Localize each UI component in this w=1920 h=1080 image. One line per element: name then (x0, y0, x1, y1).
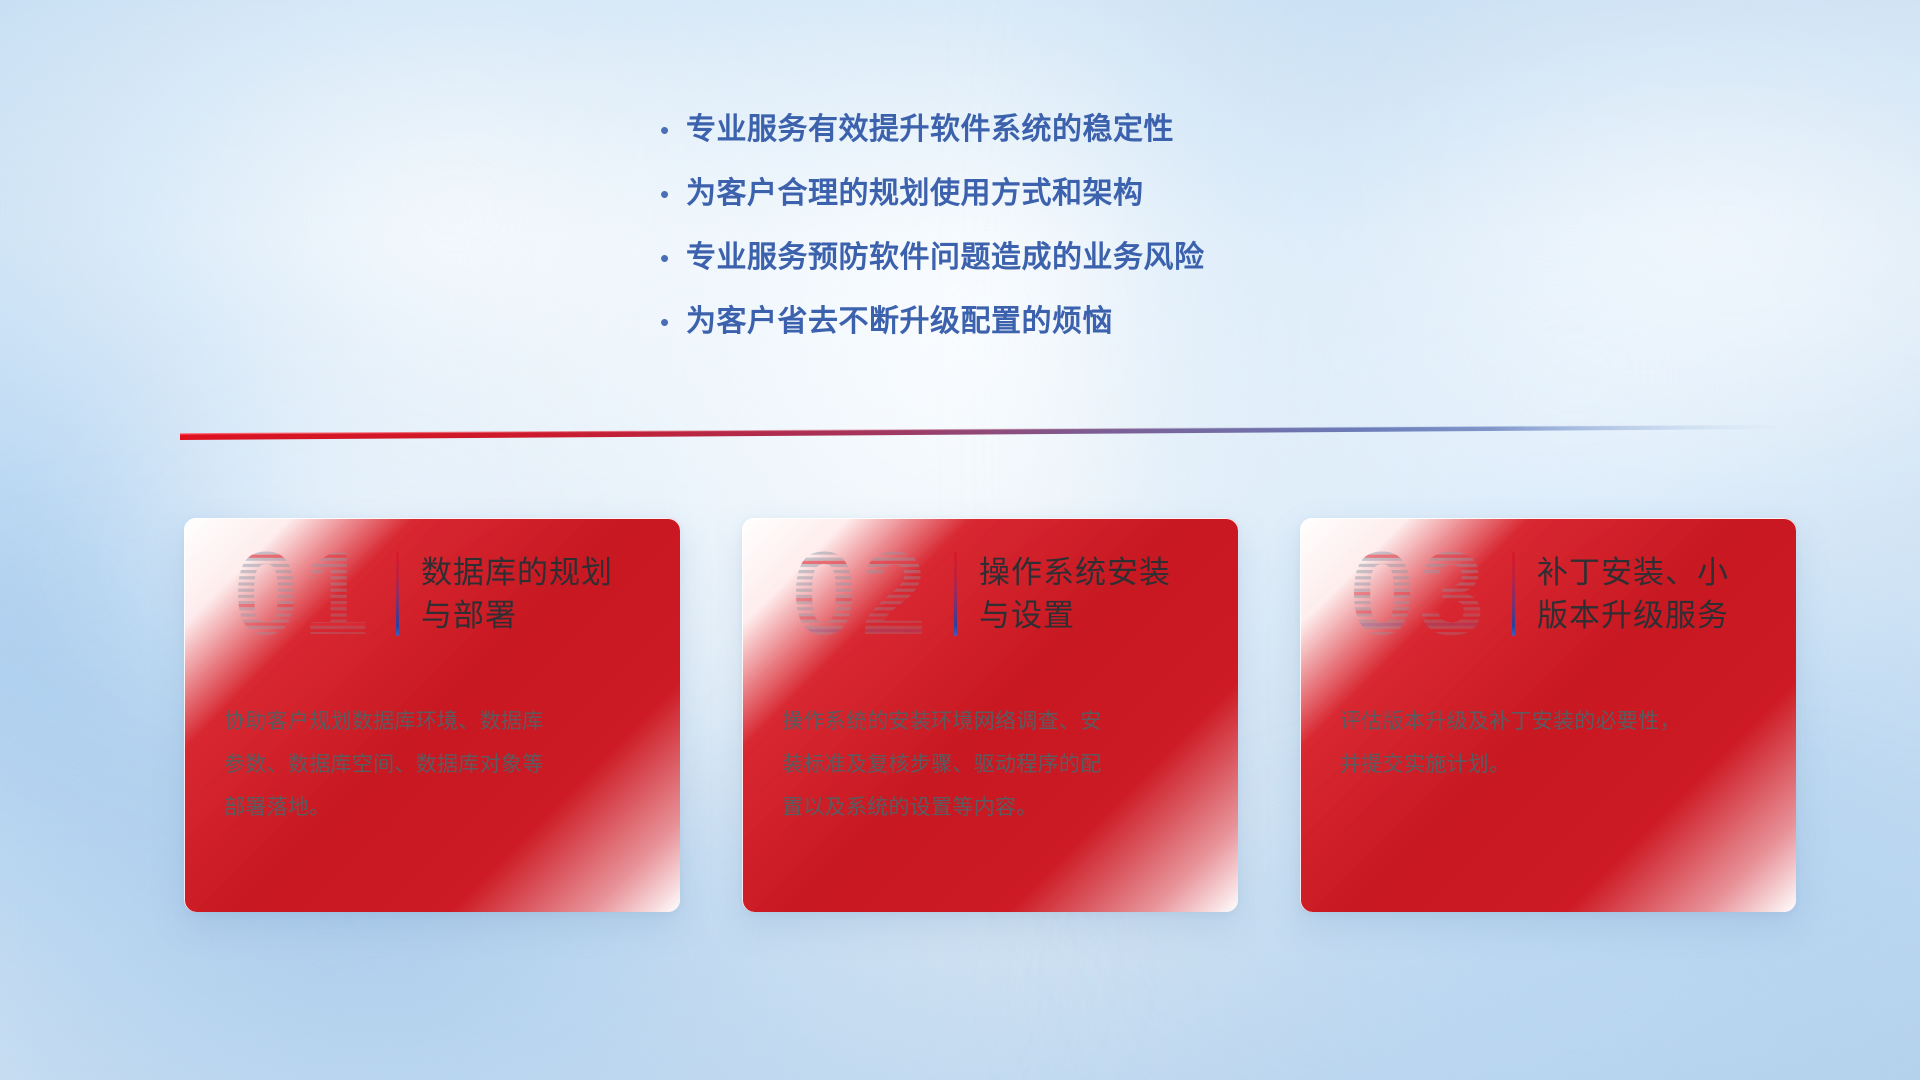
bullet-dot-icon: • (660, 238, 686, 278)
bullet-item: • 为客户省去不断升级配置的烦恼 (660, 302, 1520, 366)
card-body-text: 评估版本升级及补丁安装的必要性， 并提交实施计划。 (1340, 700, 1758, 786)
bullet-item: • 专业服务有效提升软件系统的稳定性 (660, 110, 1520, 174)
service-card[interactable]: 03 补丁安装、小 版本升级服务 评估版本升级及补丁安装的必要性， 并提交实施计… (1300, 518, 1796, 912)
card-title-accent-bar (954, 552, 957, 636)
card-title-accent-bar (1512, 552, 1515, 636)
card-number-striped-graphic: 03 (1326, 539, 1512, 649)
card-title: 数据库的规划 与部署 (421, 551, 613, 637)
card-number-striped-graphic: 01 (210, 539, 396, 649)
service-card-row: 01 数据库的规划 与部署 协助客户规划数据库环境、数据库 参数、数据库空间、数… (184, 518, 1796, 912)
card-title-accent-bar (396, 552, 399, 636)
bullet-list: • 专业服务有效提升软件系统的稳定性 • 为客户合理的规划使用方式和架构 • 专… (660, 110, 1520, 366)
card-header: 01 数据库的规划 与部署 (184, 518, 680, 670)
section-divider (180, 418, 1780, 440)
card-title: 操作系统安装 与设置 (979, 551, 1171, 637)
bullet-text: 为客户省去不断升级配置的烦恼 (686, 302, 1113, 342)
bullet-text: 为客户合理的规划使用方式和架构 (686, 174, 1144, 214)
card-body-text: 操作系统的安装环境网络调查、安 装标准及复核步骤、驱动程序的配 置以及系统的设置… (782, 700, 1200, 829)
card-header: 02 操作系统安装 与设置 (742, 518, 1238, 670)
bullet-text: 专业服务预防软件问题造成的业务风险 (686, 238, 1205, 278)
card-title: 补丁安装、小 版本升级服务 (1537, 551, 1729, 637)
bullet-dot-icon: • (660, 174, 686, 214)
service-card[interactable]: 02 操作系统安装 与设置 操作系统的安装环境网络调查、安 装标准及复核步骤、驱… (742, 518, 1238, 912)
bullet-text: 专业服务有效提升软件系统的稳定性 (686, 110, 1174, 150)
card-number-striped-graphic: 02 (768, 539, 954, 649)
bullet-dot-icon: • (660, 110, 686, 150)
card-body-text: 协助客户规划数据库环境、数据库 参数、数据库空间、数据库对象等 部署落地。 (224, 700, 642, 829)
bullet-dot-icon: • (660, 302, 686, 342)
bullet-item: • 专业服务预防软件问题造成的业务风险 (660, 238, 1520, 302)
bullet-item: • 为客户合理的规划使用方式和架构 (660, 174, 1520, 238)
service-card[interactable]: 01 数据库的规划 与部署 协助客户规划数据库环境、数据库 参数、数据库空间、数… (184, 518, 680, 912)
card-header: 03 补丁安装、小 版本升级服务 (1300, 518, 1796, 670)
